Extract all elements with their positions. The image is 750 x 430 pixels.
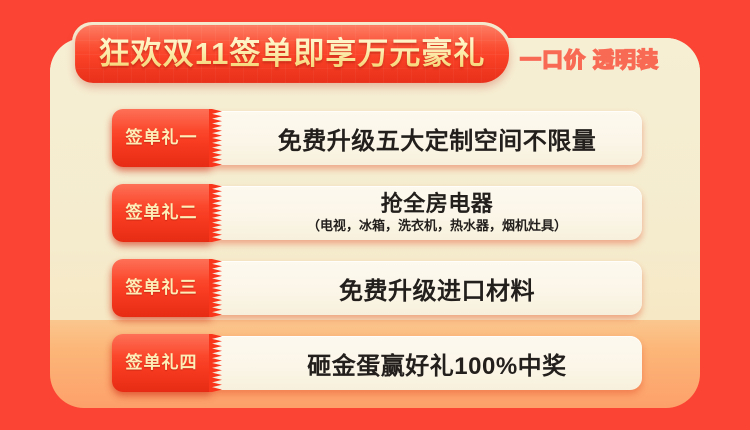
gift-tag: 签单礼一: [112, 109, 222, 167]
gift-tag-label: 签单礼四: [112, 334, 211, 392]
gift-tag: 签单礼四: [112, 334, 222, 392]
gift-title: 免费升级进口材料: [339, 271, 535, 306]
gift-tag-label: 签单礼二: [112, 184, 211, 242]
gift-tag: 签单礼三: [112, 259, 222, 317]
gift-subtitle: （电视，冰箱，洗衣机，热水器，烟机灶具）: [307, 216, 567, 235]
gift-title: 免费升级五大定制空间不限量: [278, 121, 597, 156]
gift-tag-label: 签单礼三: [112, 259, 211, 317]
gift-row-4: 砸金蛋赢好礼100%中奖 签单礼四: [112, 336, 642, 390]
gift-list: 免费升级五大定制空间不限量 签单礼一 抢全房电器 （电视，冰箱，洗衣机，热水器，…: [50, 38, 700, 408]
gift-text: 免费升级五大定制空间不限量: [232, 111, 642, 165]
gift-text: 免费升级进口材料: [232, 261, 642, 315]
gift-row-1: 免费升级五大定制空间不限量 签单礼一: [112, 111, 642, 165]
promo-banner: 狂欢双11签单即享万元豪礼 一口价 透明装 免费升级五大定制空间不限量 签单礼一…: [0, 0, 750, 430]
gift-row-2: 抢全房电器 （电视，冰箱，洗衣机，热水器，烟机灶具） 签单礼二: [112, 186, 642, 240]
gift-title: 抢全房电器: [381, 191, 494, 216]
gift-tag: 签单礼二: [112, 184, 222, 242]
gift-text: 抢全房电器 （电视，冰箱，洗衣机，热水器，烟机灶具）: [232, 186, 642, 240]
gift-tag-label: 签单礼一: [112, 109, 211, 167]
gift-title: 砸金蛋赢好礼100%中奖: [307, 346, 566, 381]
gift-row-3: 免费升级进口材料 签单礼三: [112, 261, 642, 315]
gift-text: 砸金蛋赢好礼100%中奖: [232, 336, 642, 390]
